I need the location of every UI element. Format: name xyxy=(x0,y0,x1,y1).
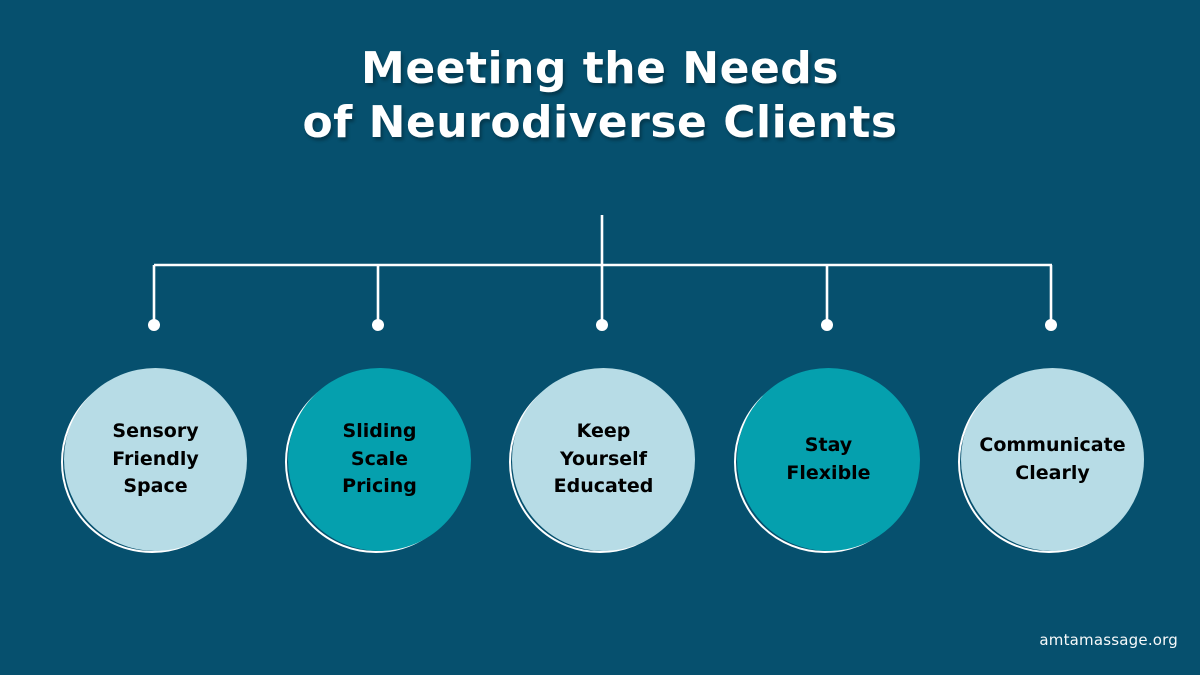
node-label: Keep Yourself Educated xyxy=(544,418,664,502)
infographic-canvas: Meeting the Needs of Neurodiverse Client… xyxy=(0,0,1200,675)
node-keep-yourself-educated[interactable]: Keep Yourself Educated xyxy=(509,371,695,557)
node-fill: Communicate Clearly xyxy=(961,368,1144,551)
node-sliding-scale-pricing[interactable]: Sliding Scale Pricing xyxy=(285,371,471,557)
node-sensory-friendly-space[interactable]: Sensory Friendly Space xyxy=(61,371,247,557)
node-fill: Sensory Friendly Space xyxy=(64,368,247,551)
node-label: Communicate Clearly xyxy=(969,432,1135,488)
node-fill: Keep Yourself Educated xyxy=(512,368,695,551)
node-communicate-clearly[interactable]: Communicate Clearly xyxy=(958,371,1144,557)
page-title-line-2: of Neurodiverse Clients xyxy=(0,96,1200,150)
page-title-line-1: Meeting the Needs xyxy=(0,42,1200,96)
footer-website: amtamassage.org xyxy=(1039,631,1178,649)
connector-dot-5 xyxy=(1045,319,1057,331)
connector-dot-3 xyxy=(596,319,608,331)
connector-dot-2 xyxy=(372,319,384,331)
node-label: Stay Flexible xyxy=(776,432,880,488)
node-label: Sensory Friendly Space xyxy=(102,418,209,502)
connector-dot-1 xyxy=(148,319,160,331)
page-title: Meeting the Needs of Neurodiverse Client… xyxy=(0,42,1200,149)
node-label: Sliding Scale Pricing xyxy=(332,418,427,502)
node-fill: Sliding Scale Pricing xyxy=(288,368,471,551)
node-row: Sensory Friendly Space Sliding Scale Pri… xyxy=(0,371,1200,571)
connector-dot-4 xyxy=(821,319,833,331)
node-stay-flexible[interactable]: Stay Flexible xyxy=(734,371,920,557)
node-fill: Stay Flexible xyxy=(737,368,920,551)
